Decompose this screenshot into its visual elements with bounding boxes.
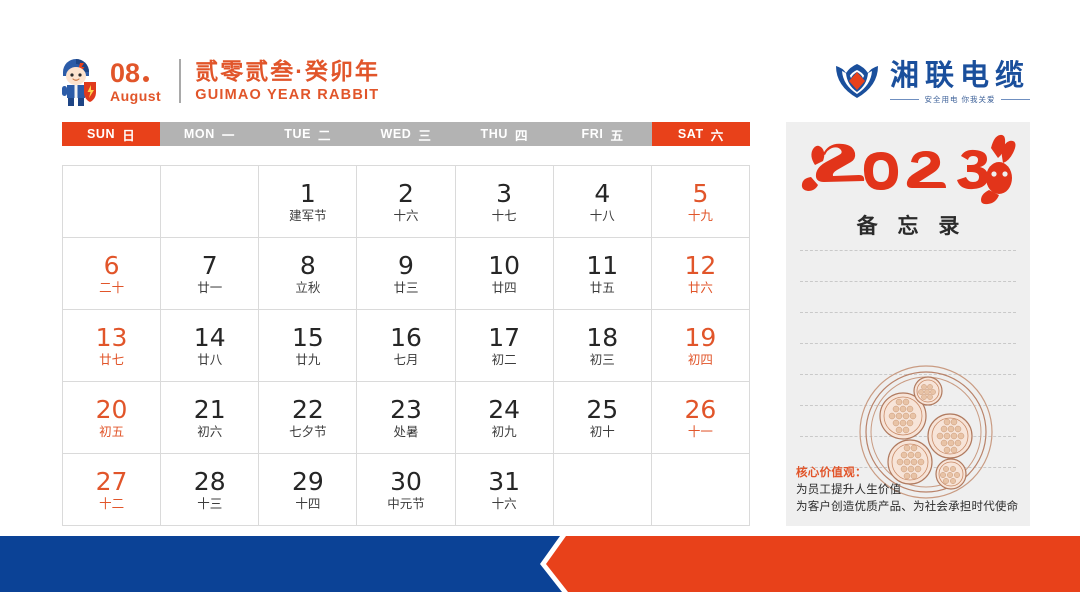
day-lunar-label: 廿三 — [393, 281, 418, 296]
day-lunar-label: 十六 — [492, 497, 517, 512]
day-number: 30 — [390, 468, 422, 495]
weekday-header-sun: SUN日 — [62, 122, 160, 146]
day-lunar-label: 廿一 — [197, 281, 222, 296]
footer-right-shape — [546, 536, 1080, 592]
core-values-line-1: 为员工提升人生价值 — [796, 482, 1024, 499]
weekday-header-wed: WED三 — [357, 122, 455, 146]
day-lunar-label: 十二 — [99, 497, 124, 512]
calendar-week-row: 13廿七14廿八15廿九16七月17初二18初三19初四 — [63, 310, 750, 382]
day-lunar-label: 初四 — [688, 353, 713, 368]
day-number: 18 — [586, 324, 618, 351]
calendar-day-cell[interactable]: 5十九 — [652, 166, 750, 238]
day-lunar-label: 初五 — [99, 425, 124, 440]
year-art-2023 — [786, 132, 1030, 208]
calendar-day-cell[interactable]: 13廿七 — [63, 310, 161, 382]
weekday-en: MON — [184, 127, 215, 141]
memo-write-line[interactable] — [800, 250, 1016, 251]
core-values-block: 核心价值观： 为员工提升人生价值 为客户创造优质产品、为社会承担时代使命 — [796, 465, 1024, 516]
weekday-en: THU — [480, 127, 508, 141]
weekday-cn: 四 — [515, 125, 528, 144]
day-lunar-label: 初十 — [590, 425, 615, 440]
day-lunar-label: 立秋 — [295, 281, 320, 296]
day-number: 10 — [488, 252, 520, 279]
memo-write-line[interactable] — [800, 343, 1016, 344]
calendar-day-cell[interactable]: 31十六 — [456, 454, 554, 526]
day-number: 6 — [104, 252, 120, 279]
calendar-grid: 1建军节2十六3十七4十八5十九6二十7廿一8立秋9廿三10廿四11廿五12廿六… — [62, 165, 750, 526]
month-header: 08 August 贰零贰叁·癸卯年 GUIMAO YEAR RABBIT — [50, 52, 380, 110]
calendar-week-row: 6二十7廿一8立秋9廿三10廿四11廿五12廿六 — [63, 238, 750, 310]
day-number: 21 — [194, 396, 226, 423]
day-number: 14 — [194, 324, 226, 351]
calendar-day-cell-empty — [161, 166, 259, 238]
day-lunar-label: 十九 — [688, 209, 713, 224]
day-number: 7 — [202, 252, 218, 279]
day-lunar-label: 廿六 — [688, 281, 713, 296]
calendar-day-cell[interactable]: 27十二 — [63, 454, 161, 526]
day-number: 20 — [96, 396, 128, 423]
weekday-header-row: SUN日MON一TUE二WED三THU四FRI五SAT六 — [62, 122, 750, 146]
day-number: 22 — [292, 396, 324, 423]
day-number: 16 — [390, 324, 422, 351]
electric-mascot-icon — [50, 54, 102, 108]
month-name: August — [110, 88, 161, 104]
day-lunar-label: 初三 — [590, 353, 615, 368]
day-lunar-label: 初九 — [492, 425, 517, 440]
day-lunar-label: 十六 — [393, 209, 418, 224]
weekday-en: SUN — [87, 127, 115, 141]
year-chinese: 贰零贰叁·癸卯年 — [195, 58, 380, 85]
day-lunar-label: 处暑 — [393, 425, 418, 440]
calendar-day-cell[interactable]: 6二十 — [63, 238, 161, 310]
calendar-day-cell[interactable]: 17初二 — [456, 310, 554, 382]
core-values-title: 核心价值观： — [796, 465, 1024, 482]
day-number: 29 — [292, 468, 324, 495]
calendar-day-cell[interactable]: 10廿四 — [456, 238, 554, 310]
calendar-day-cell[interactable]: 25初十 — [554, 382, 652, 454]
day-number: 19 — [685, 324, 717, 351]
weekday-en: FRI — [582, 127, 604, 141]
day-number: 27 — [96, 468, 128, 495]
day-lunar-label: 十七 — [492, 209, 517, 224]
calendar-day-cell[interactable]: 3十七 — [456, 166, 554, 238]
weekday-header-mon: MON一 — [160, 122, 258, 146]
day-lunar-label: 廿五 — [590, 281, 615, 296]
year-block: 贰零贰叁·癸卯年 GUIMAO YEAR RABBIT — [195, 58, 380, 104]
day-number: 8 — [300, 252, 316, 279]
day-number: 15 — [292, 324, 324, 351]
memo-write-line[interactable] — [800, 281, 1016, 282]
calendar-table: SUN日MON一TUE二WED三THU四FRI五SAT六 1建军节2十六3十七4… — [62, 122, 750, 526]
weekday-en: TUE — [284, 127, 311, 141]
core-values-line-2: 为客户创造优质产品、为社会承担时代使命 — [796, 499, 1024, 516]
day-number: 2 — [398, 180, 414, 207]
memo-title: 备 忘 录 — [786, 210, 1030, 240]
calendar-day-cell[interactable]: 15廿九 — [259, 310, 357, 382]
calendar-day-cell[interactable]: 1建军节 — [259, 166, 357, 238]
day-number: 12 — [685, 252, 717, 279]
weekday-header-tue: TUE二 — [259, 122, 357, 146]
weekday-cn: 日 — [122, 125, 135, 144]
month-number-text: 08 — [110, 59, 140, 87]
day-number: 1 — [300, 180, 316, 207]
tagline-rule-right — [1001, 99, 1030, 100]
month-number: 08 — [110, 59, 149, 87]
day-lunar-label: 七月 — [393, 353, 418, 368]
weekday-header-fri: FRI五 — [553, 122, 651, 146]
day-number: 24 — [488, 396, 520, 423]
calendar-day-cell[interactable]: 30中元节 — [357, 454, 455, 526]
header-divider — [179, 59, 181, 103]
calendar-week-row: 20初五21初六22七夕节23处暑24初九25初十26十一 — [63, 382, 750, 454]
day-lunar-label: 廿七 — [99, 353, 124, 368]
calendar-day-cell[interactable]: 9廿三 — [357, 238, 455, 310]
calendar-day-cell[interactable]: 23处暑 — [357, 382, 455, 454]
day-lunar-label: 十四 — [295, 497, 320, 512]
brand-tagline: 安全用电 你我关爱 — [919, 94, 1000, 105]
brand-tagline-row: 安全用电 你我关爱 — [890, 94, 1030, 105]
day-lunar-label: 初六 — [197, 425, 222, 440]
tagline-rule-left — [890, 99, 919, 100]
weekday-header-sat: SAT六 — [652, 122, 750, 146]
day-number: 17 — [488, 324, 520, 351]
day-number: 25 — [586, 396, 618, 423]
calendar-day-cell[interactable]: 12廿六 — [652, 238, 750, 310]
calendar-day-cell[interactable]: 20初五 — [63, 382, 161, 454]
day-lunar-label: 建军节 — [289, 209, 327, 224]
day-number: 9 — [398, 252, 414, 279]
day-number: 4 — [594, 180, 610, 207]
calendar-day-cell[interactable]: 29十四 — [259, 454, 357, 526]
calendar-day-cell[interactable]: 4十八 — [554, 166, 652, 238]
calendar-week-row: 1建军节2十六3十七4十八5十九 — [63, 166, 750, 238]
memo-write-line[interactable] — [800, 312, 1016, 313]
memo-panel: 备 忘 录 — [786, 122, 1030, 526]
day-lunar-label: 十三 — [197, 497, 222, 512]
calendar-day-cell-empty — [554, 454, 652, 526]
day-number: 5 — [692, 180, 708, 207]
calendar-day-cell[interactable]: 14廿八 — [161, 310, 259, 382]
brand-name: 湘联电缆 — [890, 59, 1030, 91]
calendar-day-cell[interactable]: 7廿一 — [161, 238, 259, 310]
day-lunar-label: 中元节 — [387, 497, 425, 512]
day-lunar-label: 十一 — [688, 425, 713, 440]
year-english: GUIMAO YEAR RABBIT — [195, 87, 380, 104]
weekday-cn: 三 — [418, 125, 431, 144]
day-number: 23 — [390, 396, 422, 423]
month-block: 08 August — [110, 59, 175, 104]
calendar-day-cell[interactable]: 11廿五 — [554, 238, 652, 310]
day-number: 11 — [586, 252, 618, 279]
footer-bar — [0, 536, 1080, 592]
calendar-day-cell[interactable]: 2十六 — [357, 166, 455, 238]
xianglian-logo-icon — [832, 60, 882, 104]
day-lunar-label: 廿四 — [492, 281, 517, 296]
weekday-header-thu: THU四 — [455, 122, 553, 146]
day-lunar-label: 十八 — [590, 209, 615, 224]
calendar-day-cell[interactable]: 8立秋 — [259, 238, 357, 310]
month-dot-icon — [143, 76, 149, 82]
day-lunar-label: 廿八 — [197, 353, 222, 368]
calendar-day-cell[interactable]: 18初三 — [554, 310, 652, 382]
calendar-day-cell-empty — [652, 454, 750, 526]
calendar-day-cell[interactable]: 16七月 — [357, 310, 455, 382]
day-number: 3 — [496, 180, 512, 207]
calendar-day-cell[interactable]: 28十三 — [161, 454, 259, 526]
calendar-page: 08 August 贰零贰叁·癸卯年 GUIMAO YEAR RABBIT 湘联… — [0, 0, 1080, 592]
weekday-cn: 一 — [222, 125, 235, 144]
day-number: 13 — [96, 324, 128, 351]
day-lunar-label: 廿九 — [295, 353, 320, 368]
weekday-en: SAT — [678, 127, 704, 141]
day-lunar-label: 二十 — [99, 281, 124, 296]
weekday-cn: 五 — [610, 125, 623, 144]
day-lunar-label: 七夕节 — [289, 425, 327, 440]
calendar-day-cell[interactable]: 19初四 — [652, 310, 750, 382]
day-number: 26 — [685, 396, 717, 423]
calendar-day-cell[interactable]: 24初九 — [456, 382, 554, 454]
brand-text: 湘联电缆 安全用电 你我关爱 — [890, 59, 1030, 105]
day-lunar-label: 初二 — [492, 353, 517, 368]
calendar-day-cell[interactable]: 22七夕节 — [259, 382, 357, 454]
weekday-en: WED — [380, 127, 411, 141]
weekday-cn: 二 — [318, 125, 331, 144]
calendar-day-cell[interactable]: 26十一 — [652, 382, 750, 454]
weekday-cn: 六 — [711, 125, 724, 144]
day-number: 28 — [194, 468, 226, 495]
calendar-day-cell-empty — [63, 166, 161, 238]
day-number: 31 — [488, 468, 520, 495]
footer-left-shape — [0, 536, 562, 592]
calendar-week-row: 27十二28十三29十四30中元节31十六 — [63, 454, 750, 526]
brand-logo: 湘联电缆 安全用电 你我关爱 — [832, 56, 1030, 108]
calendar-day-cell[interactable]: 21初六 — [161, 382, 259, 454]
